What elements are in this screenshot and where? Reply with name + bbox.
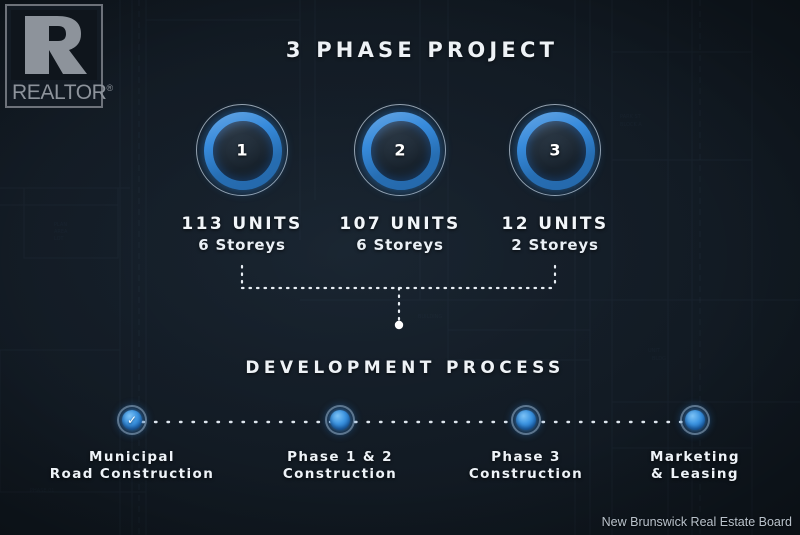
realtor-wordmark: REALTOR® <box>11 80 97 106</box>
svg-text:PHASE 01: PHASE 01 <box>30 488 54 494</box>
phase-3-badge: 3 <box>509 104 601 196</box>
timeline-label-2-line2: Construction <box>235 466 445 483</box>
timeline-label-1-line1: Municipal <box>27 449 237 466</box>
phase-card-3: 3 12 UNITS 2 Storeys <box>485 104 625 254</box>
phase-3-number: 3 <box>510 141 600 160</box>
timeline-node-marketing-leasing[interactable] <box>680 405 710 435</box>
dot-icon <box>516 410 536 430</box>
infographic-canvas: PLAN AREA LOT PARK ST BLOCK A UNIT BLDG … <box>0 0 800 535</box>
svg-text:AREA: AREA <box>54 229 68 235</box>
footer-credit: New Brunswick Real Estate Board <box>602 515 792 529</box>
timeline-node-municipal-road-construction[interactable]: ✓ <box>117 405 147 435</box>
phase-2-badge: 2 <box>354 104 446 196</box>
svg-text:LOT: LOT <box>54 236 65 242</box>
timeline-label-4-line2: & Leasing <box>590 466 800 483</box>
phase-2-number: 2 <box>355 141 445 160</box>
section-title-development-process: DEVELOPMENT PROCESS <box>5 358 800 378</box>
check-glyph: ✓ <box>117 405 147 435</box>
svg-text:BUILDING: BUILDING <box>418 314 442 320</box>
timeline-label-2-line1: Phase 1 & 2 <box>235 449 445 466</box>
phase-1-number: 1 <box>197 141 287 160</box>
phase-card-2: 2 107 UNITS 6 Storeys <box>330 104 470 254</box>
timeline-label-4: Marketing & Leasing <box>590 449 800 483</box>
svg-text:PLAN: PLAN <box>54 222 67 228</box>
phase-card-1: 1 113 UNITS 6 Storeys <box>172 104 312 254</box>
dot-icon <box>330 410 350 430</box>
timeline-node-phase-3-construction[interactable] <box>511 405 541 435</box>
timeline-label-1-line2: Road Construction <box>27 466 237 483</box>
phase-1-storeys: 6 Storeys <box>172 236 312 254</box>
phase-3-units: 12 UNITS <box>485 214 625 234</box>
timeline-node-phase-1-2-construction[interactable] <box>325 405 355 435</box>
phase-2-units: 107 UNITS <box>330 214 470 234</box>
phase-1-badge: 1 <box>196 104 288 196</box>
realtor-wordmark-text: REALTOR <box>12 81 106 104</box>
svg-text:UNIT: UNIT <box>648 348 661 354</box>
timeline-label-1: Municipal Road Construction <box>27 449 237 483</box>
timeline-label-2: Phase 1 & 2 Construction <box>235 449 445 483</box>
phase-3-storeys: 2 Storeys <box>485 236 625 254</box>
phase-2-storeys: 6 Storeys <box>330 236 470 254</box>
page-title: 3 PHASE PROJECT <box>22 38 800 62</box>
phase-1-units: 113 UNITS <box>172 214 312 234</box>
timeline-track <box>128 419 696 425</box>
timeline-label-4-line1: Marketing <box>590 449 800 466</box>
dot-icon <box>685 410 705 430</box>
registered-mark: ® <box>106 83 112 93</box>
